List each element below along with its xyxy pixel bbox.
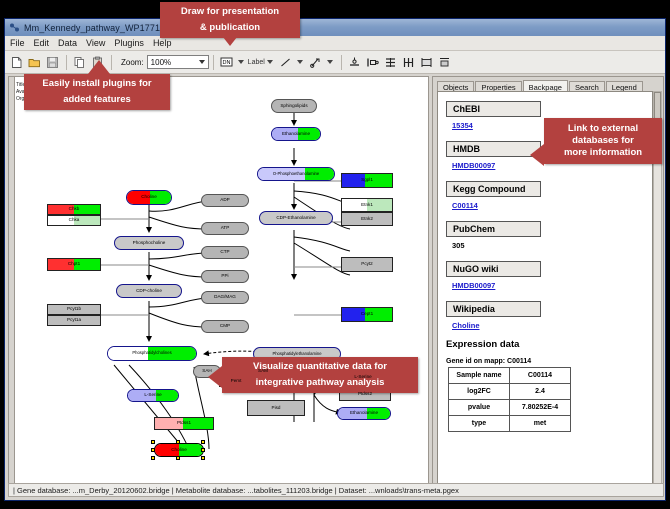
line-tool-icon[interactable] xyxy=(277,54,294,71)
pathway-canvas[interactable]: Title: Availability: Organism: xyxy=(8,76,429,496)
chevron-down-icon[interactable] xyxy=(267,60,273,64)
callout-link-line2: databases for xyxy=(544,135,662,147)
status-bar: | Gene database: ...m_Derby_20120602.bri… xyxy=(8,483,664,497)
copy-icon[interactable] xyxy=(71,54,88,71)
chevron-down-icon[interactable] xyxy=(327,60,333,64)
metabolite-atp[interactable]: ATP xyxy=(201,222,249,235)
metabolite-l-serine-left[interactable]: L-Serine xyxy=(127,389,179,402)
menu-help[interactable]: Help xyxy=(153,38,172,48)
gene-etnk1[interactable]: Etnk1 xyxy=(341,198,393,212)
selection-handle-w[interactable] xyxy=(151,448,155,452)
table-row: type met xyxy=(449,416,571,432)
gene-pcyt1a[interactable]: Pcyt1a xyxy=(47,315,101,326)
gene-sgpl1[interactable]: Sgpl1 xyxy=(341,173,393,188)
align-center-icon[interactable] xyxy=(346,54,363,71)
gene-cept1[interactable]: Cept1 xyxy=(341,307,393,322)
db-header-kegg-compound: Kegg Compound xyxy=(446,181,541,197)
cell-type-value: met xyxy=(510,416,571,432)
callout-plugins-arrow xyxy=(88,60,110,74)
table-row: Sample name C00114 xyxy=(449,368,571,384)
metabolite-ethanolamine-top[interactable]: Ethanolamine xyxy=(271,127,321,141)
metabolite-choline-top[interactable]: Choline xyxy=(126,190,172,205)
cell-sample-name-key: Sample name xyxy=(449,368,510,384)
db-value-pubchem: 305 xyxy=(452,241,652,250)
gene-etnk2[interactable]: Etnk2 xyxy=(341,212,393,226)
cell-log2fc-value: 2.4 xyxy=(510,384,571,400)
gene-id-on-mapp: Gene id on mapp: C00114 xyxy=(446,358,652,365)
zoom-value: 100% xyxy=(151,58,171,67)
metabolite-cmp[interactable]: CMP xyxy=(201,320,249,333)
metabolite-phosphocholine[interactable]: Phosphocholine xyxy=(114,236,184,250)
metabolite-ppi[interactable]: PPi xyxy=(201,270,249,283)
chevron-down-icon[interactable] xyxy=(297,60,303,64)
anchor-tool[interactable] xyxy=(307,54,337,71)
metabolite-cdp-choline[interactable]: CDP-choline xyxy=(116,284,182,298)
label-tool-label: Label xyxy=(248,59,265,66)
open-file-icon[interactable] xyxy=(26,54,43,71)
db-link-kegg-compound[interactable]: C00114 xyxy=(452,201,652,210)
toolbar-separator xyxy=(341,55,342,70)
line-tool[interactable] xyxy=(277,54,307,71)
metabolite-adp[interactable]: ADP xyxy=(201,194,249,207)
db-link-wikipedia[interactable]: Choline xyxy=(452,321,652,330)
metabolite-cdp-ethanolamine[interactable]: CDP-Ethanolamine xyxy=(259,211,333,225)
selection-handle-e[interactable] xyxy=(201,448,205,452)
bring-front-icon[interactable] xyxy=(436,54,453,71)
distribute-icon[interactable] xyxy=(400,54,417,71)
db-header-chebi: ChEBI xyxy=(446,101,541,117)
callout-link-databases: Link to external databases for more info… xyxy=(544,118,662,164)
callout-draw-arrow xyxy=(219,32,241,46)
label-tool[interactable]: Label xyxy=(248,59,277,66)
db-header-pubchem: PubChem xyxy=(446,221,541,237)
gene-pisd[interactable]: Pisd xyxy=(247,400,305,416)
chevron-down-icon[interactable] xyxy=(238,60,244,64)
db-header-nugo-wiki: NuGO wiki xyxy=(446,261,541,277)
callout-link-line1: Link to external xyxy=(544,118,662,135)
menu-file[interactable]: File xyxy=(10,38,25,48)
datanode-tool[interactable]: DN xyxy=(218,54,248,71)
window-titlebar: Mm_Kennedy_pathway_WP1771_45176.gpml xyxy=(5,19,665,37)
callout-visualize-line1: Visualize quantitative data for xyxy=(222,357,418,377)
toolbar-separator xyxy=(213,55,214,70)
selection-handle-sw[interactable] xyxy=(151,456,155,460)
db-header-wikipedia: Wikipedia xyxy=(446,301,541,317)
expression-table: Sample name C00114 log2FC 2.4 pvalue 7.8… xyxy=(448,367,571,432)
cell-sample-name-value: C00114 xyxy=(510,368,571,384)
callout-link-line3: more information xyxy=(544,147,662,164)
metabolite-phosphatidylcholines[interactable]: Phosphatidylcholines xyxy=(107,346,197,361)
callout-link-arrow xyxy=(530,144,544,166)
chevron-down-icon[interactable] xyxy=(199,60,205,64)
metabolite-dag-mag[interactable]: DAG/MAG xyxy=(201,291,249,304)
menu-plugins[interactable]: Plugins xyxy=(114,38,144,48)
align-left-icon[interactable] xyxy=(364,54,381,71)
zoom-label: Zoom: xyxy=(121,58,144,67)
zoom-combobox[interactable]: 100% xyxy=(147,55,209,69)
cell-type-key: type xyxy=(449,416,510,432)
metabolite-choline-selected[interactable]: Choline xyxy=(154,443,204,457)
menu-data[interactable]: Data xyxy=(58,38,77,48)
metabolite-ethanolamine-bottom[interactable]: Ethanolamine xyxy=(337,407,391,420)
callout-visualize: Visualize quantitative data for integrat… xyxy=(222,357,418,393)
gene-pcyt2[interactable]: Pcyt2 xyxy=(341,257,393,272)
toolbar-separator xyxy=(66,55,67,70)
menubar[interactable]: File Edit Data View Plugins Help xyxy=(5,36,665,51)
metabolite-ctp[interactable]: CTP xyxy=(201,246,249,259)
gene-chpt1[interactable]: Chpt1 xyxy=(47,258,101,271)
toolbar-separator xyxy=(111,55,112,70)
pathvisio-icon xyxy=(9,22,20,33)
callout-plugins: Easily install plugins for added feature… xyxy=(24,74,170,110)
callout-visualize-line2: integrative pathway analysis xyxy=(222,377,418,393)
metabolite-sphingolipids[interactable]: Sphingolipids xyxy=(271,99,317,113)
pathway-edges xyxy=(9,77,429,496)
table-row: pvalue 7.80252E-4 xyxy=(449,400,571,416)
menu-view[interactable]: View xyxy=(86,38,105,48)
selection-handle-ne[interactable] xyxy=(201,440,205,444)
table-row: log2FC 2.4 xyxy=(449,384,571,400)
gene-chka[interactable]: Chka xyxy=(47,215,101,226)
cell-pvalue-key: pvalue xyxy=(449,400,510,416)
callout-draw-line1: Draw for presentation xyxy=(160,2,300,22)
datanode-icon[interactable]: DN xyxy=(218,54,235,71)
selection-handle-nw[interactable] xyxy=(151,440,155,444)
cell-pvalue-value: 7.80252E-4 xyxy=(510,400,571,416)
selection-handle-se[interactable] xyxy=(201,456,205,460)
callout-plugins-line2: added features xyxy=(24,94,170,110)
same-width-icon[interactable] xyxy=(418,54,435,71)
expression-data-title: Expression data xyxy=(446,339,652,350)
anchor-tool-icon[interactable] xyxy=(307,54,324,71)
selection-handle-n[interactable] xyxy=(176,440,180,444)
status-text: | Gene database: ...m_Derby_20120602.bri… xyxy=(13,486,459,495)
metabolite-o-phosphoethanolamine[interactable]: O-Phosphoethanolamine xyxy=(257,167,335,181)
db-link-nugo-wiki[interactable]: HMDB00097 xyxy=(452,281,652,290)
menu-edit[interactable]: Edit xyxy=(34,38,50,48)
gene-ptdss1[interactable]: Ptdss1 xyxy=(154,417,214,430)
callout-plugins-line1: Easily install plugins for xyxy=(24,74,170,94)
save-file-icon[interactable] xyxy=(44,54,61,71)
new-file-icon[interactable] xyxy=(8,54,25,71)
gene-chkb[interactable]: Chkb xyxy=(47,204,101,215)
db-header-hmdb: HMDB xyxy=(446,141,541,157)
selection-handle-s[interactable] xyxy=(176,456,180,460)
screenshot-root: Mm_Kennedy_pathway_WP1771_45176.gpml Fil… xyxy=(0,0,670,509)
gene-pcyt1b[interactable]: Pcyt1b xyxy=(47,304,101,315)
cell-log2fc-key: log2FC xyxy=(449,384,510,400)
stack-vertical-icon[interactable] xyxy=(382,54,399,71)
svg-text:DN: DN xyxy=(222,60,230,66)
